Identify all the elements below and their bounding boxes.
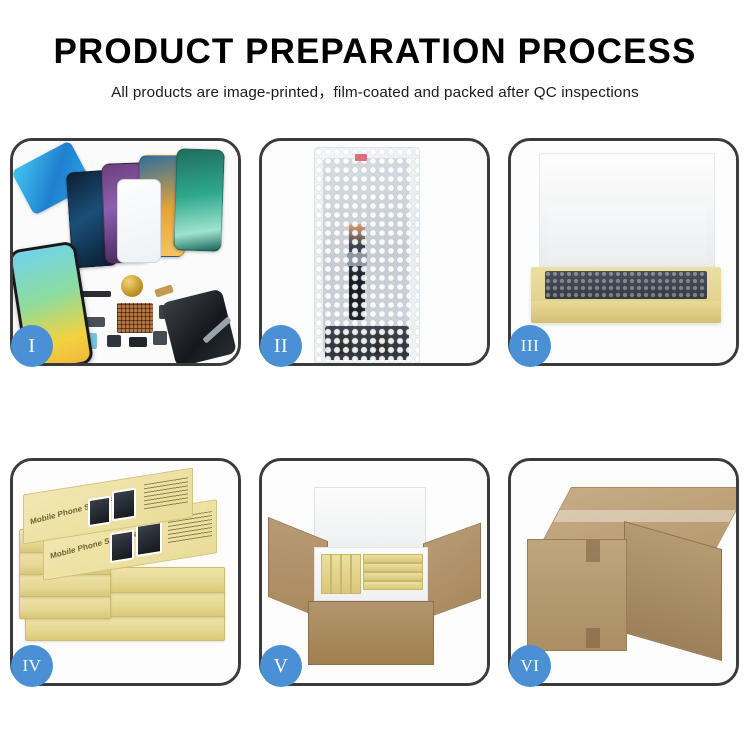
yellow-box-row — [363, 572, 423, 581]
carton-front-face — [527, 539, 627, 651]
box-phone-image — [110, 529, 134, 563]
foam-liner — [314, 547, 428, 601]
box-phone-image — [112, 488, 136, 522]
tray-front-face — [531, 301, 721, 323]
carton-tape-seam — [586, 628, 600, 648]
page-title: PRODUCT PREPARATION PROCESS — [0, 34, 750, 71]
yellow-box-row — [363, 554, 423, 563]
box-phone-image — [136, 521, 162, 557]
pink-seal-tab — [355, 154, 367, 161]
step-image-3 — [511, 141, 736, 363]
step-image-2 — [262, 141, 487, 363]
step-panel-5: V — [259, 458, 490, 686]
yellow-box-row — [363, 563, 423, 572]
step-image-1 — [13, 141, 238, 363]
step-badge-1: I — [11, 325, 53, 367]
step-panel-3: III — [508, 138, 739, 366]
yellow-box-row — [351, 554, 361, 594]
bubble-texture-overlay — [315, 148, 419, 363]
step-badge-5: V — [260, 645, 302, 687]
carton-body — [308, 601, 434, 665]
yellow-box-row — [321, 554, 331, 594]
header: PRODUCT PREPARATION PROCESS All products… — [0, 0, 750, 102]
yellow-box-row — [331, 554, 341, 594]
box-phone-image — [88, 496, 111, 528]
process-steps-grid: I II III — [10, 138, 740, 686]
phone-screen-teal — [173, 148, 225, 252]
speaker-part-icon — [121, 275, 143, 297]
connector-part — [154, 284, 174, 297]
yellow-box-row — [341, 554, 351, 594]
step-badge-4: IV — [11, 645, 53, 687]
step-badge-2: II — [260, 325, 302, 367]
step-image-5 — [262, 461, 487, 683]
bubble-wrapped-contents — [545, 271, 707, 299]
carton-tape-top — [553, 510, 735, 522]
button-flex-part — [129, 337, 147, 347]
step-panel-4: Mobile Phone Spare Parts Mobile Phone Sp… — [10, 458, 241, 686]
step-badge-3: III — [509, 325, 551, 367]
step-badge-6: VI — [509, 645, 551, 687]
box-spec-text-lines — [144, 477, 188, 510]
yellow-tray-box — [531, 267, 721, 323]
carton-tape-seam — [586, 540, 600, 562]
step-image-4: Mobile Phone Spare Parts Mobile Phone Sp… — [13, 461, 238, 683]
step-panel-2: II — [259, 138, 490, 366]
foam-sheet-lid — [539, 153, 715, 271]
step-panel-6: VI — [508, 458, 739, 686]
mesh-grid-part — [117, 303, 153, 333]
page-subtitle: All products are image-printed，film-coat… — [0, 80, 750, 102]
retail-box-stack: Mobile Phone Spare Parts Mobile Phone Sp… — [17, 477, 235, 677]
vibrator-part — [153, 331, 167, 345]
tempered-glass-protector — [117, 179, 161, 263]
yellow-box-row — [363, 581, 423, 590]
speaker-mesh-part — [107, 335, 121, 347]
retail-box-layer — [19, 595, 111, 619]
phone-screen-fan — [65, 149, 238, 271]
step-image-6 — [511, 461, 736, 683]
bubble-wrap-bag — [314, 147, 420, 363]
step-panel-1: I — [10, 138, 241, 366]
